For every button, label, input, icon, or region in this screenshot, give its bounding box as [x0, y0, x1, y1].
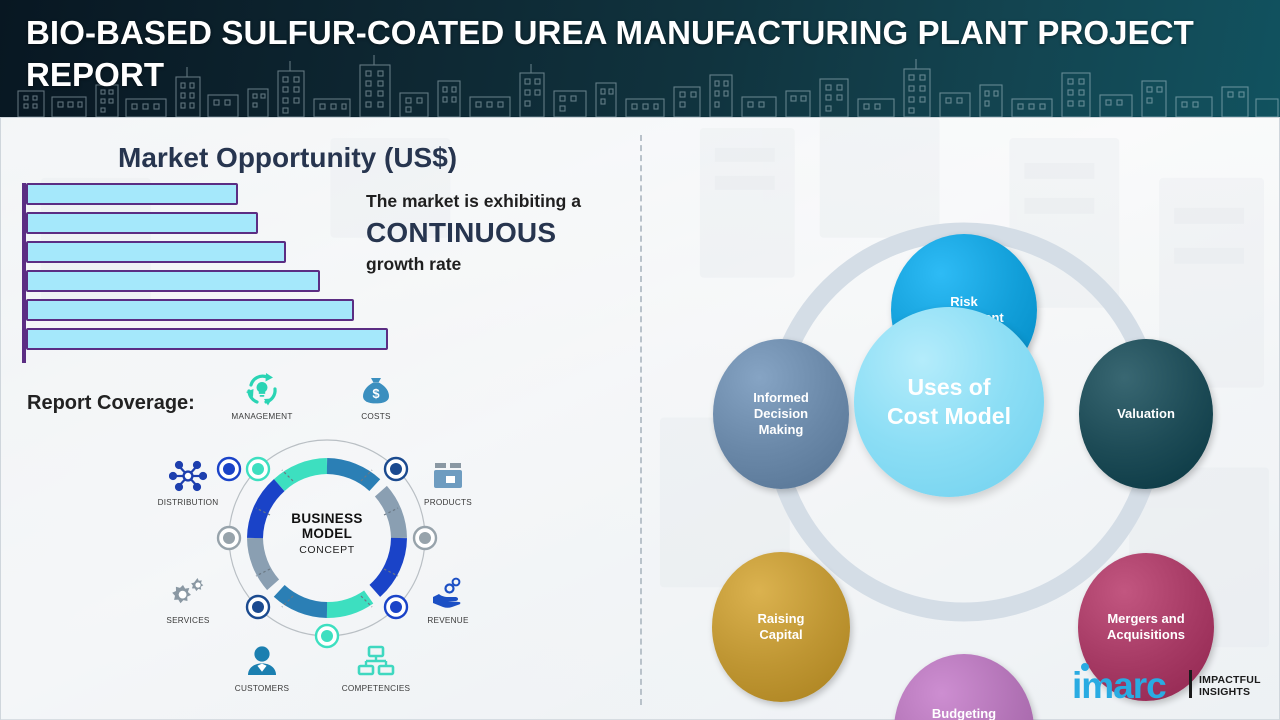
node-line: Making — [753, 422, 809, 438]
money-bag-icon: $ — [330, 371, 422, 409]
page-title: Bio-Based Sulfur-Coated Urea Manufacturi… — [26, 12, 1266, 96]
slide-header: Bio-Based Sulfur-Coated Urea Manufacturi… — [0, 0, 1280, 117]
logo-tagline-line1: IMPACTFUL — [1199, 674, 1261, 686]
network-hub-icon — [142, 457, 234, 495]
node-line: Capital — [758, 627, 805, 643]
bm-center-line3: CONCEPT — [242, 544, 412, 556]
gears-icon — [142, 575, 234, 613]
right-panel: RiskManagementValuationMergers andAcquis… — [640, 117, 1280, 720]
lightbulb-recycle-icon — [216, 371, 308, 409]
growth-line-1: The market is exhibiting a — [366, 190, 634, 213]
bar-5 — [26, 299, 354, 321]
left-panel: Market Opportunity (US$) The market is e… — [0, 117, 640, 720]
cost-model-node-informed-decision-making[interactable]: InformedDecisionMaking — [713, 339, 849, 489]
coverage-item-competencies[interactable]: COMPETENCIES — [330, 643, 422, 693]
imarc-logo-graphic: imarc IMPACTFUL INSIGHTS — [1072, 660, 1262, 706]
coverage-label-distribution: DISTRIBUTION — [142, 498, 234, 507]
business-model-diagram: BUSINESS MODEL CONCEPT — [130, 375, 520, 705]
coverage-label-competencies: COMPETENCIES — [330, 684, 422, 693]
node-line: Informed — [753, 390, 809, 406]
slide-root: Bio-Based Sulfur-Coated Urea Manufacturi… — [0, 0, 1280, 720]
coverage-label-services: SERVICES — [142, 616, 234, 625]
market-opportunity-bar-chart — [22, 183, 402, 363]
node-line: Budgeting — [927, 706, 1001, 720]
bm-center-line1: BUSINESS — [242, 511, 412, 526]
svg-text:$: $ — [372, 386, 380, 401]
coverage-label-revenue: REVENUE — [402, 616, 494, 625]
bar-6 — [26, 328, 388, 350]
user-person-icon — [216, 643, 308, 681]
center-line-1: Uses of — [887, 373, 1011, 402]
coverage-item-revenue[interactable]: REVENUE — [402, 575, 494, 625]
coverage-item-management[interactable]: MANAGEMENT — [216, 371, 308, 421]
org-chart-icon — [330, 643, 422, 681]
box-package-icon — [402, 457, 494, 495]
cost-model-node-valuation[interactable]: Valuation — [1079, 339, 1213, 489]
cost-model-node-raising-capital[interactable]: RaisingCapital — [712, 552, 850, 702]
coverage-label-customers: CUSTOMERS — [216, 684, 308, 693]
cost-model-center-node[interactable]: Uses of Cost Model — [854, 307, 1044, 497]
bar-1 — [26, 183, 238, 205]
coverage-label-products: PRODUCTS — [402, 498, 494, 507]
coverage-item-distribution[interactable]: DISTRIBUTION — [142, 457, 234, 507]
market-opportunity-title: Market Opportunity (US$) — [118, 142, 457, 174]
coverage-item-services[interactable]: SERVICES — [142, 575, 234, 625]
center-line-2: Cost Model — [887, 402, 1011, 431]
growth-highlight: CONTINUOUS — [366, 213, 634, 254]
bar-4 — [26, 270, 320, 292]
bm-center-line2: MODEL — [242, 526, 412, 541]
logo-tagline-line2: INSIGHTS — [1199, 686, 1250, 698]
imarc-logo: imarc IMPACTFUL INSIGHTS — [1072, 660, 1262, 706]
svg-text:imarc: imarc — [1072, 665, 1166, 706]
coverage-item-costs[interactable]: $ COSTS — [330, 371, 422, 421]
node-line: Decision — [753, 406, 809, 422]
growth-statement: The market is exhibiting a CONTINUOUS gr… — [366, 190, 634, 276]
node-line: Valuation — [1117, 406, 1175, 422]
coverage-label-costs: COSTS — [330, 412, 422, 421]
bar-3 — [26, 241, 286, 263]
coverage-label-management: MANAGEMENT — [216, 412, 308, 421]
node-line: Raising — [758, 611, 805, 627]
node-line: Mergers and — [1107, 611, 1185, 627]
business-model-center-label: BUSINESS MODEL CONCEPT — [242, 453, 412, 623]
coverage-item-products[interactable]: PRODUCTS — [402, 457, 494, 507]
coverage-item-customers[interactable]: CUSTOMERS — [216, 643, 308, 693]
node-line: Acquisitions — [1107, 627, 1185, 643]
hand-coins-icon — [402, 575, 494, 613]
bar-2 — [26, 212, 258, 234]
growth-line-3: growth rate — [366, 253, 634, 276]
